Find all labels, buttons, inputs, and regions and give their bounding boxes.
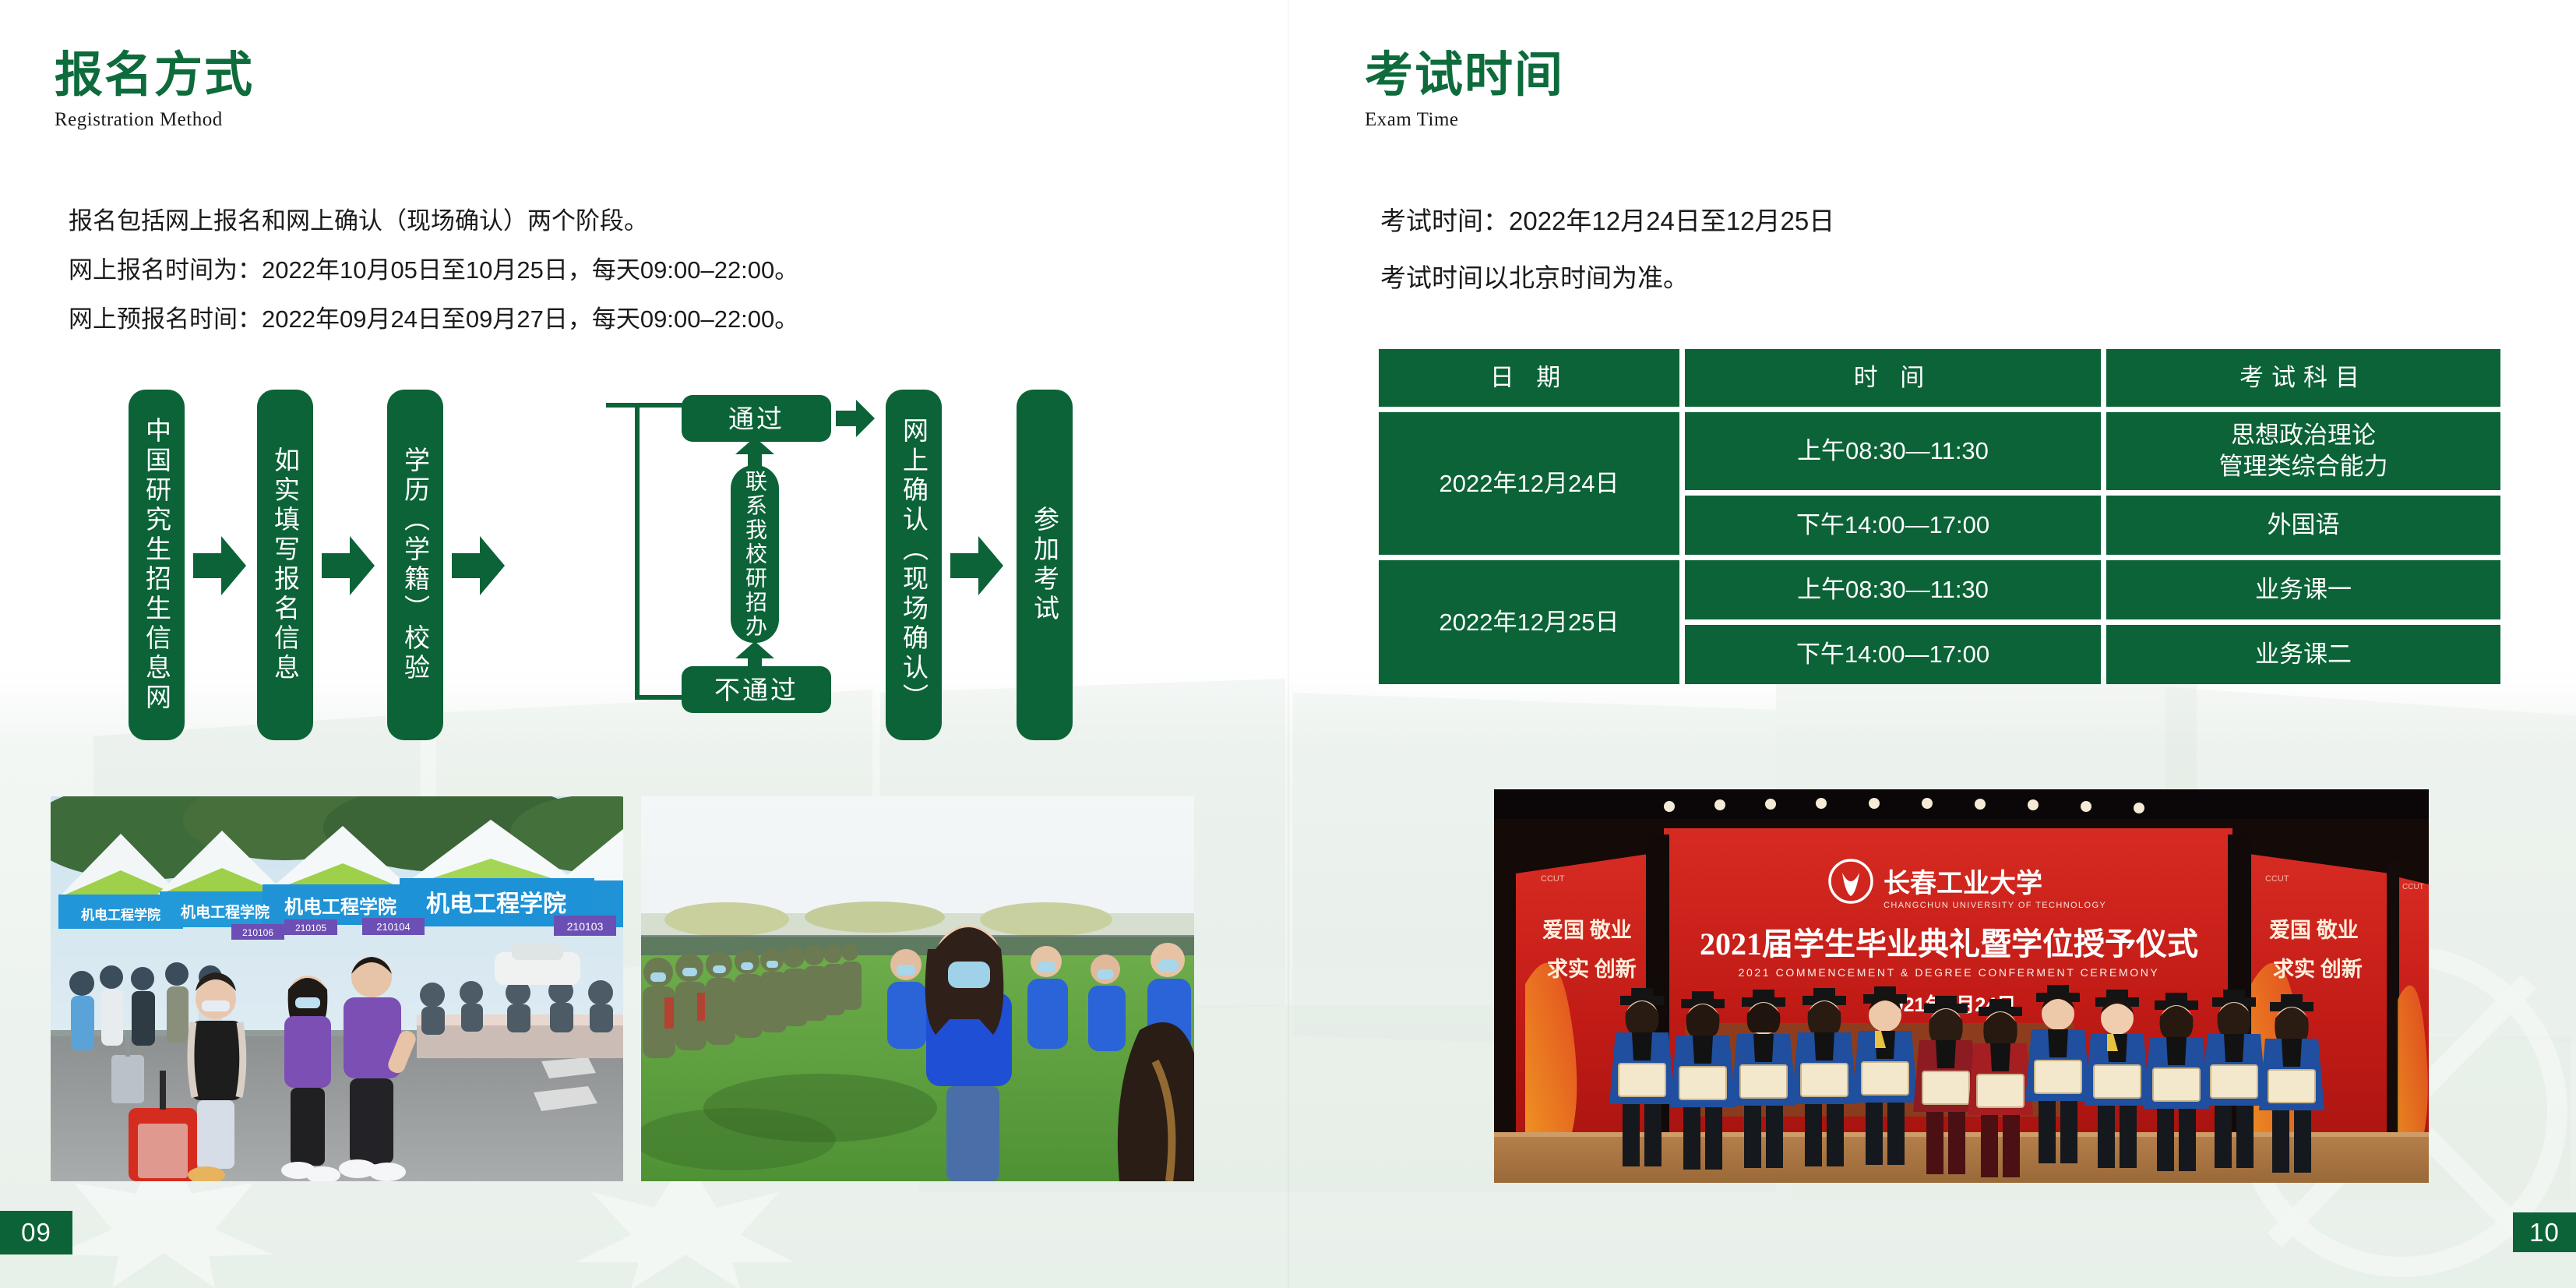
table-row-day-2: 2022年12月25日 上午08:30—11:30 业务课一 下午14:00—1… xyxy=(1379,560,2500,684)
flow-branch-fail-label: 不通过 xyxy=(714,677,798,703)
table-cell-time-1-2: 下午14:00—17:00 xyxy=(1685,496,2101,555)
svg-text:210106: 210106 xyxy=(242,927,273,938)
exam-schedule-table: 日 期 时 间 考试科目 2022年12月24日 上午08:30—11:30 xyxy=(1379,349,2500,684)
page-number-left: 09 xyxy=(0,1211,72,1254)
exam-paragraph-2: 考试时间以北京时间为准。 xyxy=(1380,265,1689,291)
flow-step-2-label: 如实填写报名信息 xyxy=(273,446,298,683)
flow-arrow-1-icon xyxy=(193,536,246,595)
table-cell-subject-2-2: 业务课二 xyxy=(2106,625,2500,684)
table-header-date: 日 期 xyxy=(1379,349,1679,407)
svg-text:210105: 210105 xyxy=(295,923,326,933)
table-subrow-1-1: 上午08:30—11:30 思想政治理论 管理类综合能力 xyxy=(1685,412,2500,490)
exam-section-heading: 考试时间 Exam Time xyxy=(1365,48,1564,131)
flow-branch-pass-label: 通过 xyxy=(728,406,784,432)
slide-spread: 报名方式 Registration Method 报名包括网上报名和网上确认（现… xyxy=(0,0,2576,1288)
table-cell-subject-1-2-label: 外国语 xyxy=(2268,510,2340,541)
exam-title-en: Exam Time xyxy=(1365,109,1564,131)
svg-text:爱国 敬业: 爱国 敬业 xyxy=(1542,919,1632,942)
flow-arrow-up-1-icon xyxy=(735,641,774,672)
table-cell-subject-1-1-label: 思想政治理论 管理类综合能力 xyxy=(2219,420,2388,482)
table-header-subject-label: 考试科目 xyxy=(2239,362,2367,393)
flow-step-4[interactable]: 网上确认（现场确认） xyxy=(886,390,942,740)
flow-arrow-up-2-icon xyxy=(735,437,774,468)
svg-text:机电工程学院: 机电工程学院 xyxy=(284,896,396,918)
flow-step-2[interactable]: 如实填写报名信息 xyxy=(257,390,313,740)
flow-arrow-2-icon xyxy=(322,536,375,595)
table-cell-time-2-1: 上午08:30—11:30 xyxy=(1685,560,2101,619)
table-subrow-1-2: 下午14:00—17:00 外国语 xyxy=(1685,496,2500,555)
photo-enrollment-booths: 机电工程学院 机电工程学院 机电工程学院 机电工程学院 210106 21010… xyxy=(51,796,623,1181)
table-cell-date-2-label: 2022年12月25日 xyxy=(1440,607,1619,638)
table-cell-date-1: 2022年12月24日 xyxy=(1379,412,1679,555)
exam-title-cn: 考试时间 xyxy=(1365,48,1564,104)
page-number-right-label: 10 xyxy=(2529,1218,2560,1247)
svg-text:机电工程学院: 机电工程学院 xyxy=(426,891,566,917)
table-cell-subject-2-2-label: 业务课二 xyxy=(2255,639,2352,670)
flow-branch-pass[interactable]: 通过 xyxy=(682,395,831,442)
flow-arrow-3-icon xyxy=(452,536,505,595)
table-header-row: 日 期 时 间 考试科目 xyxy=(1379,349,2500,407)
table-subrow-2-1: 上午08:30—11:30 业务课一 xyxy=(1685,560,2500,619)
svg-text:2021 COMMENCEMENT & DEGREE: 2021 COMMENCEMENT & DEGREE CONFERMENT CE… xyxy=(1739,966,2160,979)
flow-step-1-label: 中国研究生招生信息网 xyxy=(144,417,170,713)
svg-text:CCUT: CCUT xyxy=(1541,874,1565,884)
flow-contact-office[interactable]: 联系我校研招办 xyxy=(731,465,779,643)
page-number-right: 10 xyxy=(2513,1212,2576,1252)
flow-branch-fail[interactable]: 不通过 xyxy=(682,666,831,713)
table-cell-time-2-2-label: 下午14:00—17:00 xyxy=(1796,639,1989,670)
svg-text:求实 创新: 求实 创新 xyxy=(1547,957,1637,981)
svg-text:2021届学生毕业典礼暨学位授予仪式: 2021届学生毕业典礼暨学位授予仪式 xyxy=(1700,926,2198,962)
table-cell-subject-2-1: 业务课一 xyxy=(2106,560,2500,619)
table-cell-subject-2-1-label: 业务课一 xyxy=(2255,574,2352,605)
table-cell-date-2: 2022年12月25日 xyxy=(1379,560,1679,684)
svg-text:CCUT: CCUT xyxy=(2265,874,2289,884)
svg-text:求实 创新: 求实 创新 xyxy=(2273,957,2363,981)
table-cell-time-2-2: 下午14:00—17:00 xyxy=(1685,625,2101,684)
flow-step-5-label: 参加考试 xyxy=(1032,506,1058,624)
flow-arrow-pass-icon xyxy=(836,400,875,437)
photo-commencement-ceremony: CCUT CCUT CCUT 爱国 敬业 求实 创新 爱国 敬业 求实 创新 长… xyxy=(1494,789,2429,1183)
svg-text:机电工程学院: 机电工程学院 xyxy=(81,907,160,923)
registration-flowchart: 中国研究生招生信息网 如实填写报名信息 学历（学籍）校验 通过 xyxy=(0,0,1288,779)
table-cell-time-1-1-label: 上午08:30—11:30 xyxy=(1797,436,1989,467)
flow-step-1[interactable]: 中国研究生招生信息网 xyxy=(129,390,185,740)
svg-text:爱国 敬业: 爱国 敬业 xyxy=(2269,919,2359,942)
photo-commencement-ceremony-image: CCUT CCUT CCUT 爱国 敬业 求实 创新 爱国 敬业 求实 创新 长… xyxy=(1494,789,2429,1183)
photo-opening-ceremony-image xyxy=(641,796,1194,1181)
exam-paragraph-1: 考试时间：2022年12月24日至12月25日 xyxy=(1380,208,1834,234)
flow-contact-office-label: 联系我校研招办 xyxy=(744,470,766,639)
flow-step-5[interactable]: 参加考试 xyxy=(1017,390,1073,740)
page-number-left-label: 09 xyxy=(21,1218,51,1247)
svg-text:CCUT: CCUT xyxy=(2402,883,2424,891)
svg-text:长春工业大学: 长春工业大学 xyxy=(1884,868,2042,898)
photo-opening-ceremony xyxy=(641,796,1194,1181)
photo-enrollment-booths-image: 机电工程学院 机电工程学院 机电工程学院 机电工程学院 210106 21010… xyxy=(51,796,623,1181)
flow-step-3[interactable]: 学历（学籍）校验 xyxy=(387,390,443,740)
page-gutter xyxy=(1288,0,1289,1288)
table-cell-time-2-1-label: 上午08:30—11:30 xyxy=(1797,574,1989,605)
table-header-subject: 考试科目 xyxy=(2106,349,2500,407)
table-cell-date-1-label: 2022年12月24日 xyxy=(1440,468,1619,499)
table-cell-time-1-2-label: 下午14:00—17:00 xyxy=(1796,510,1989,541)
svg-text:210104: 210104 xyxy=(376,921,410,933)
flow-step-4-label: 网上确认（现场确认） xyxy=(901,417,927,713)
svg-text:CHANGCHUN UNIVERSITY OF TECHNO: CHANGCHUN UNIVERSITY OF TECHNOLOGY xyxy=(1884,901,2106,910)
table-row-day-1: 2022年12月24日 上午08:30—11:30 思想政治理论 管理类综合能力… xyxy=(1379,412,2500,555)
table-subrow-2-2: 下午14:00—17:00 业务课二 xyxy=(1685,625,2500,684)
flow-step-3-label: 学历（学籍）校验 xyxy=(403,446,428,683)
table-cell-subject-1-2: 外国语 xyxy=(2106,496,2500,555)
table-cell-subject-1-1: 思想政治理论 管理类综合能力 xyxy=(2106,412,2500,490)
table-header-time-label: 时 间 xyxy=(1854,362,1933,393)
svg-text:210103: 210103 xyxy=(567,920,604,933)
table-header-time: 时 间 xyxy=(1685,349,2101,407)
flow-arrow-4-icon xyxy=(950,536,1003,595)
table-cell-time-1-1: 上午08:30—11:30 xyxy=(1685,412,2101,490)
table-header-date-label: 日 期 xyxy=(1490,362,1569,393)
svg-text:机电工程学院: 机电工程学院 xyxy=(181,903,270,921)
